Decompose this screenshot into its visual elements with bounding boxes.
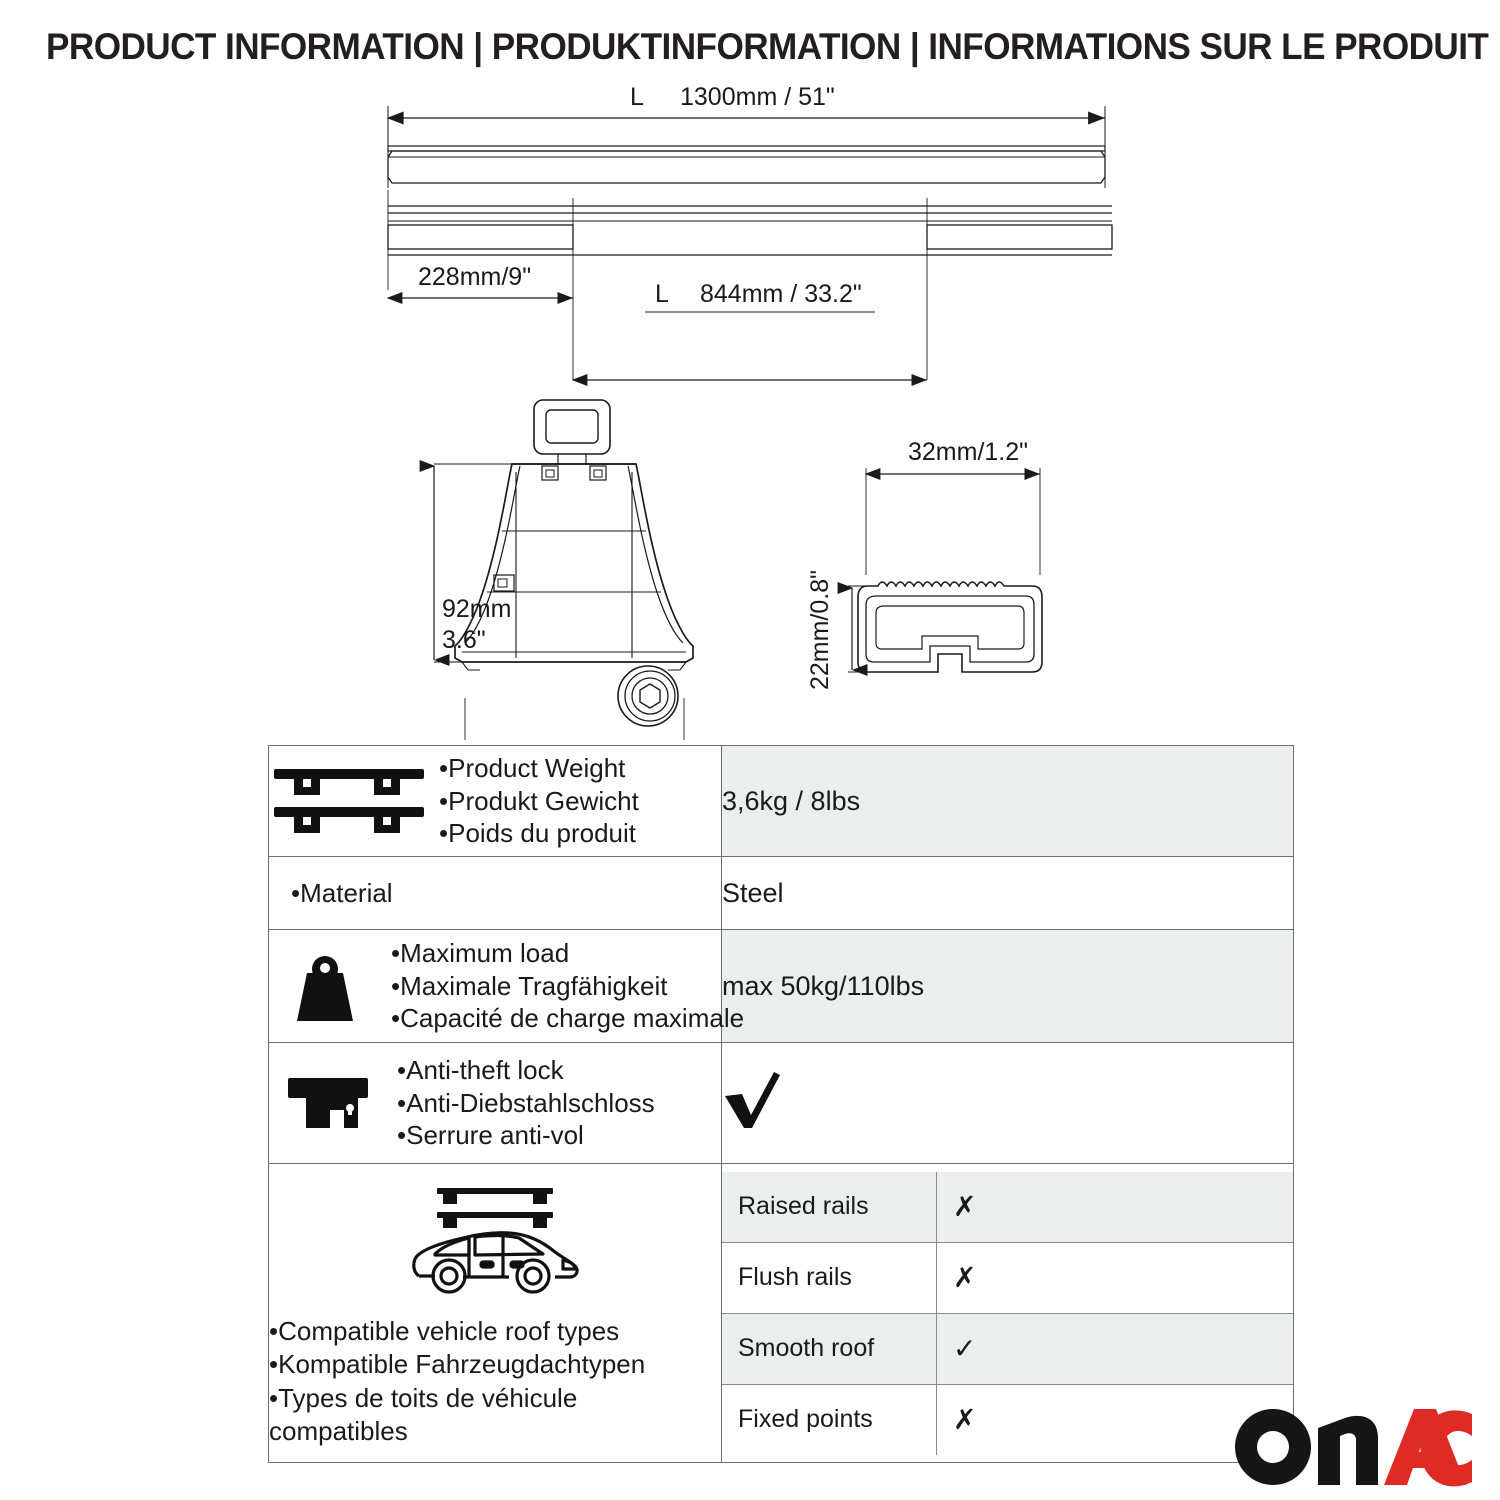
- logo-letter-o: [1235, 1409, 1311, 1485]
- technical-drawing: L 1300mm / 51": [0, 80, 1500, 740]
- label-line: •Serrure anti-vol: [397, 1119, 655, 1152]
- bar-length-value: 1300mm / 51": [680, 83, 835, 111]
- weight-icon: [269, 949, 381, 1023]
- label-line: •Maximale Tragfähigkeit: [391, 970, 744, 1003]
- row-value-maxload: max 50kg/110lbs: [722, 930, 1294, 1043]
- profile-width-value: 32mm/1.2": [908, 438, 1028, 466]
- roof-option-mark: ✗: [937, 1172, 1294, 1243]
- table-row: •Product Weight •Produkt Gewicht •Poids …: [269, 746, 1294, 857]
- label-group-lock: •Anti-theft lock •Anti-Diebstahlschloss …: [397, 1054, 655, 1152]
- roof-option-name: Raised rails: [722, 1172, 937, 1243]
- bar-length-label: L: [630, 83, 644, 111]
- spec-table: •Product Weight •Produkt Gewicht •Poids …: [268, 745, 1294, 1463]
- row-label-cell-material: •Material: [269, 857, 722, 930]
- span-label: L: [655, 280, 669, 308]
- roof-option-name: Flush rails: [722, 1242, 937, 1313]
- label-group-maxload: •Maximum load •Maximale Tragfähigkeit •C…: [391, 937, 744, 1035]
- foot-height-value-1: 92mm: [442, 595, 511, 623]
- label-group-material: •Material: [291, 877, 393, 910]
- roof-option-row: Fixed points ✗: [722, 1384, 1293, 1455]
- roof-option-name: Smooth roof: [722, 1313, 937, 1384]
- crossbars-icon: [269, 761, 429, 841]
- row-value-weight: 3,6kg / 8lbs: [722, 746, 1294, 857]
- label-line: •Poids du produit: [439, 817, 639, 850]
- label-line: •Maximum load: [391, 937, 744, 970]
- table-row: •Anti-theft lock •Anti-Diebstahlschloss …: [269, 1043, 1294, 1164]
- label-line: •Product Weight: [439, 752, 639, 785]
- roof-option-row: Raised rails ✗: [722, 1172, 1293, 1243]
- row-label-cell-maxload: •Maximum load •Maximale Tragfähigkeit •C…: [269, 930, 722, 1043]
- roof-option-mark: ✓: [937, 1313, 1294, 1384]
- label-group-weight: •Product Weight •Produkt Gewicht •Poids …: [439, 752, 639, 850]
- roof-option-row: Smooth roof ✓: [722, 1313, 1293, 1384]
- table-row: •Maximum load •Maximale Tragfähigkeit •C…: [269, 930, 1294, 1043]
- car-with-rack-icon: [405, 1180, 585, 1304]
- label-line: •Capacité de charge maximale: [391, 1002, 744, 1035]
- label-line: •Kompatible Fahrzeugdachtypen: [269, 1348, 721, 1381]
- profile-height-value: 22mm/0.8": [806, 570, 834, 690]
- label-line: •Anti-theft lock: [397, 1054, 655, 1087]
- roof-option-row: Flush rails ✗: [722, 1242, 1293, 1313]
- label-line: •Material: [291, 877, 393, 910]
- row-label-cell-rooftypes: •Compatible vehicle roof types •Kompatib…: [269, 1164, 722, 1463]
- label-line: •Types de toits de véhicule compatibles: [269, 1382, 721, 1449]
- roof-options-table: Raised rails ✗ Flush rails ✗ Smooth roof…: [722, 1172, 1293, 1455]
- table-row: •Material Steel: [269, 857, 1294, 930]
- foot-height-value-2: 3.6": [442, 626, 486, 654]
- omac-logo: [1232, 1404, 1472, 1490]
- lock-icon: [269, 1072, 387, 1134]
- table-row: •Compatible vehicle roof types •Kompatib…: [269, 1164, 1294, 1463]
- span-value: 844mm / 33.2": [700, 280, 862, 308]
- product-information-sheet: PRODUCT INFORMATION | PRODUKTINFORMATION…: [0, 0, 1500, 1500]
- label-line: •Compatible vehicle roof types: [269, 1315, 721, 1348]
- label-line: •Anti-Diebstahlschloss: [397, 1087, 655, 1120]
- page-title: PRODUCT INFORMATION | PRODUKTINFORMATION…: [46, 26, 1386, 68]
- roof-option-name: Fixed points: [722, 1384, 937, 1455]
- roof-option-mark: ✗: [937, 1242, 1294, 1313]
- row-label-cell-weight: •Product Weight •Produkt Gewicht •Poids …: [269, 746, 722, 857]
- end-offset-value: 228mm/9": [418, 263, 531, 291]
- row-value-lock: [722, 1043, 1294, 1164]
- label-line: •Produkt Gewicht: [439, 785, 639, 818]
- row-value-material: Steel: [722, 857, 1294, 930]
- label-group-rooftypes: •Compatible vehicle roof types •Kompatib…: [269, 1315, 721, 1448]
- logo-letter-m: [1318, 1416, 1378, 1485]
- roof-options-cell: Raised rails ✗ Flush rails ✗ Smooth roof…: [722, 1164, 1294, 1463]
- row-label-cell-lock: •Anti-theft lock •Anti-Diebstahlschloss …: [269, 1043, 722, 1164]
